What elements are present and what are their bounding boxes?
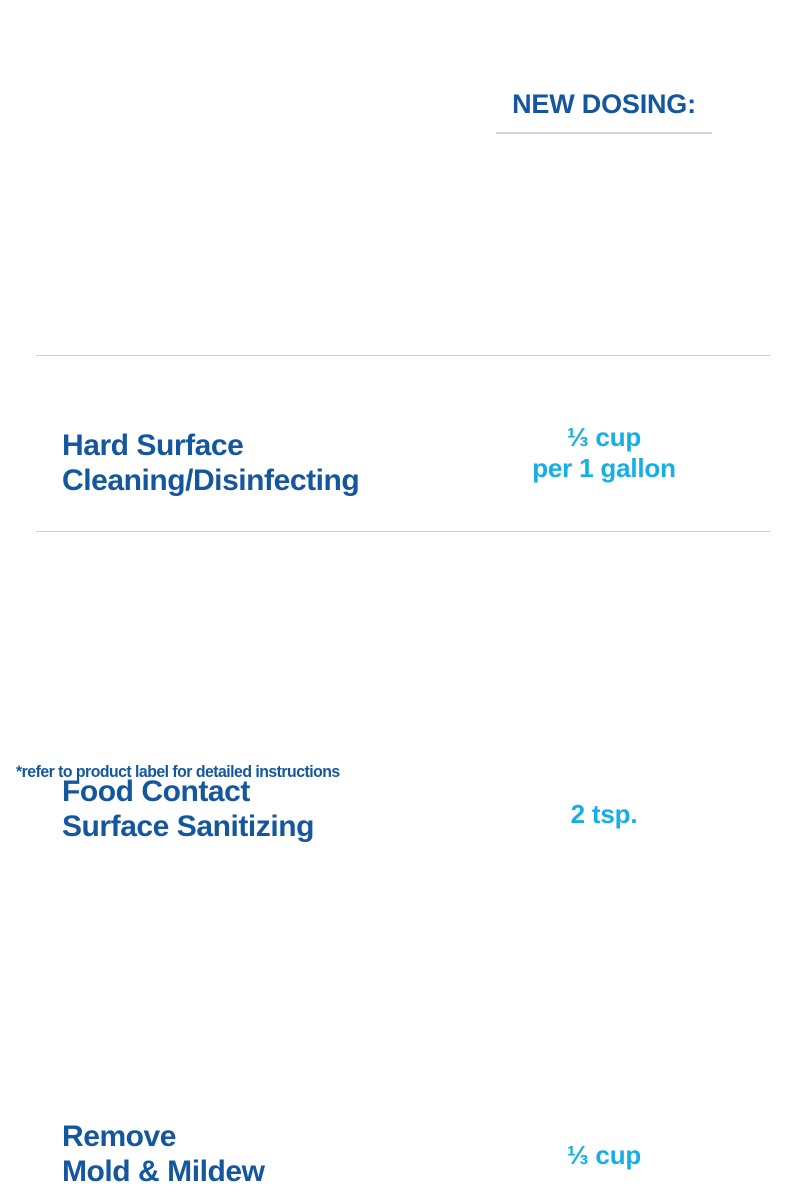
dosing-row-value: 2 tsp. [496,799,712,830]
dosing-row-label: Remove Mold & Mildew [62,1119,264,1190]
new-dosing-title: NEW DOSING: [496,90,712,120]
dosing-column-header: NEW DOSING: [496,90,712,134]
dosing-row-value: ⅓ cup [496,1140,712,1171]
dosing-row-label: Food Contact Surface Sanitizing [62,774,314,845]
dosing-row-food-contact: Food Contact Surface Sanitizing 2 tsp. [0,364,800,524]
row-divider [36,531,770,532]
row-divider [36,355,770,356]
dosing-row-mold-mildew: Remove Mold & Mildew ⅓ cup [0,546,800,706]
dosing-row-hard-surface: Hard Surface Cleaning/Disinfecting ⅓ cup… [0,196,800,341]
dosing-chart-page: NEW DOSING: Hard Surface Cleaning/Disinf… [0,0,800,800]
header-underline-rule [496,132,712,134]
footnote-disclaimer: *refer to product label for detailed ins… [16,762,340,782]
